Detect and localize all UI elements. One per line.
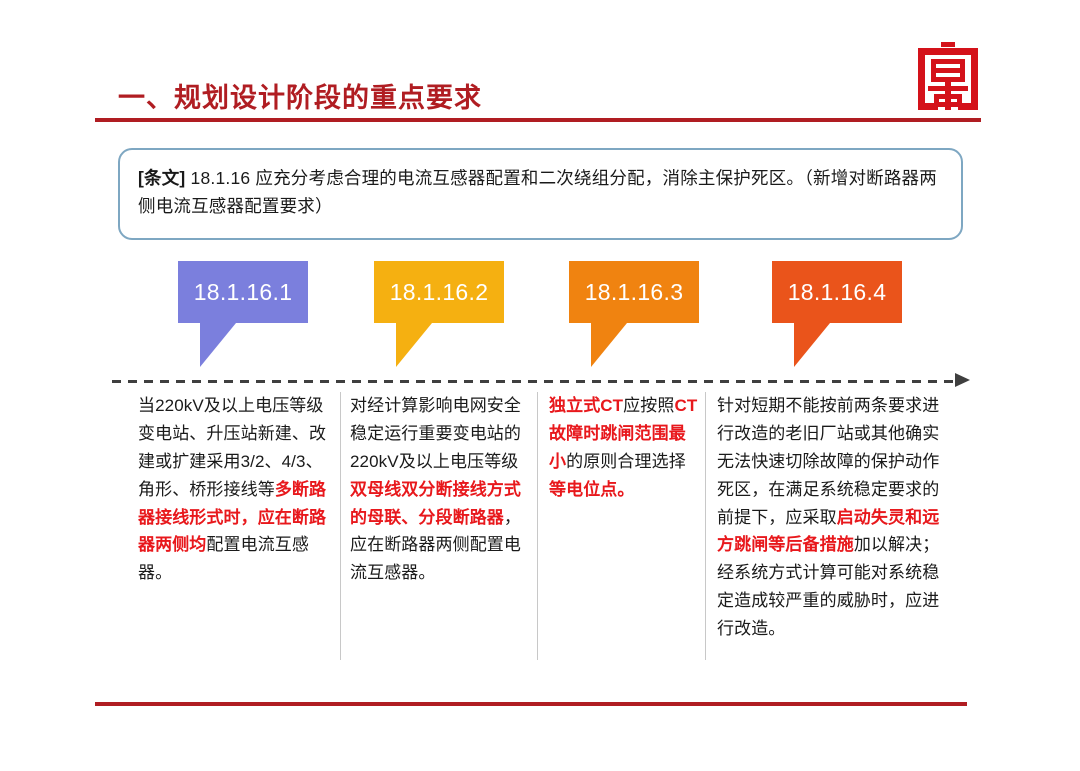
column-3-highlight-3: 等电位点。 — [549, 480, 635, 499]
callout-label: 18.1.16.1 — [194, 279, 293, 306]
arrow-right-icon — [955, 373, 970, 387]
callout-label: 18.1.16.4 — [788, 279, 887, 306]
column-text-3: 独立式CT应按照CT故障时跳闸范围最小的原则合理选择等电位点。 — [549, 392, 701, 504]
column-text-1: 当220kV及以上电压等级变电站、升压站新建、改建或扩建采用3/2、4/3、角形… — [138, 392, 334, 587]
callout-banner-1[interactable]: 18.1.16.1 — [178, 261, 308, 323]
callout-banner-3[interactable]: 18.1.16.3 — [569, 261, 699, 323]
timeline-dashed-line — [112, 380, 957, 383]
callout-banner-4[interactable]: 18.1.16.4 — [772, 261, 902, 323]
column-2-highlight-1: 双母线双分断接线方式的母联、分段断路器 — [350, 480, 521, 527]
column-3-plain-2: 的原则合理选择 — [566, 452, 686, 471]
callout-tail-icon — [794, 323, 830, 367]
column-3-plain-1: 应按照 — [623, 396, 674, 415]
callout-label: 18.1.16.3 — [585, 279, 684, 306]
callout-tail-icon — [591, 323, 627, 367]
footer-divider — [95, 702, 967, 706]
clause-paragraph: [条文] 18.1.16 应充分考虑合理的电流互感器配置和二次绕组分配，消除主保… — [138, 164, 945, 221]
clause-label: [条文] — [138, 168, 185, 188]
column-2-plain-1: 对经计算影响电网安全稳定运行重要变电站的220kV及以上电压等级 — [350, 396, 521, 471]
tang-character-logo-icon — [915, 42, 981, 112]
column-text-2: 对经计算影响电网安全稳定运行重要变电站的220kV及以上电压等级双母线双分断接线… — [350, 392, 532, 587]
column-divider — [705, 392, 706, 660]
timeline-arrow — [112, 376, 980, 388]
column-divider — [537, 392, 538, 660]
callout-tail-icon — [396, 323, 432, 367]
clause-number: 18.1.16 — [191, 168, 251, 188]
column-3-highlight-1: 独立式CT — [549, 396, 623, 415]
clause-text-box: [条文] 18.1.16 应充分考虑合理的电流互感器配置和二次绕组分配，消除主保… — [118, 148, 963, 240]
column-text-4: 针对短期不能按前两条要求进行改造的老旧厂站或其他确实无法快速切除故障的保护动作死… — [717, 392, 952, 643]
page-title: 一、规划设计阶段的重点要求 — [118, 76, 482, 115]
callout-label: 18.1.16.2 — [390, 279, 489, 306]
columns-container: 当220kV及以上电压等级变电站、升压站新建、改建或扩建采用3/2、4/3、角形… — [112, 392, 980, 662]
title-underline-divider — [95, 118, 981, 122]
callout-banner-2[interactable]: 18.1.16.2 — [374, 261, 504, 323]
clause-body: 应充分考虑合理的电流互感器配置和二次绕组分配，消除主保护死区。（新增对断路器两侧… — [138, 168, 937, 216]
callout-tail-icon — [200, 323, 236, 367]
column-divider — [340, 392, 341, 660]
column-2-plain-3: 。 — [418, 563, 435, 582]
